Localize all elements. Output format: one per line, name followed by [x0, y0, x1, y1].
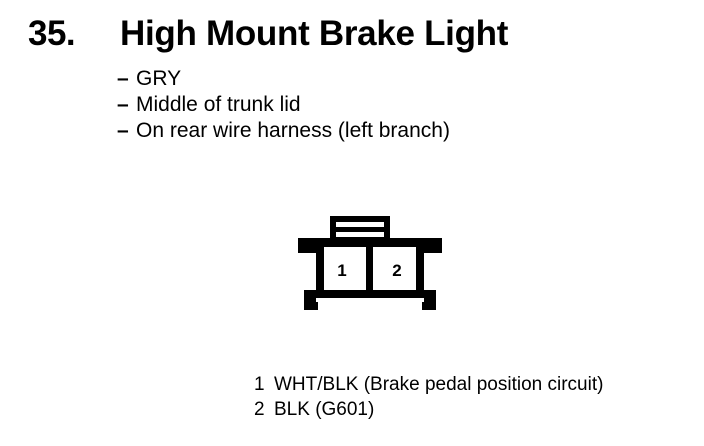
detail-item-label: GRY — [136, 67, 181, 90]
pin-number-1: 1 — [337, 261, 346, 280]
page-title: High Mount Brake Light — [120, 12, 508, 56]
dash-bullet-icon: – — [117, 66, 136, 92]
detail-item-label: Middle of trunk lid — [136, 93, 301, 116]
legend-pin-number: 2 — [254, 397, 274, 422]
page-header: 35. High Mount Brake Light — [0, 12, 704, 58]
pin-number-2: 2 — [392, 261, 401, 280]
pin-legend: 1WHT/BLK (Brake pedal position circuit) … — [254, 372, 694, 422]
item-number: 35. — [28, 12, 75, 56]
dash-bullet-icon: – — [117, 92, 136, 118]
dash-bullet-icon: – — [117, 118, 136, 144]
connector-diagram: 1 2 — [290, 208, 450, 318]
legend-row: 2BLK (G601) — [254, 397, 694, 422]
diagram-page: 35. High Mount Brake Light –GRY –Middle … — [0, 0, 704, 446]
detail-item-harness: –On rear wire harness (left branch) — [117, 118, 677, 144]
legend-pin-description: BLK (G601) — [274, 399, 374, 420]
legend-row: 1WHT/BLK (Brake pedal position circuit) — [254, 372, 694, 397]
detail-list: –GRY –Middle of trunk lid –On rear wire … — [117, 66, 677, 144]
detail-item-wire-color: –GRY — [117, 66, 677, 92]
detail-item-label: On rear wire harness (left branch) — [136, 119, 450, 142]
legend-pin-number: 1 — [254, 372, 274, 397]
legend-pin-description: WHT/BLK (Brake pedal position circuit) — [274, 374, 603, 395]
detail-item-location: –Middle of trunk lid — [117, 92, 677, 118]
connector-housing-icon: 1 2 — [290, 208, 450, 318]
